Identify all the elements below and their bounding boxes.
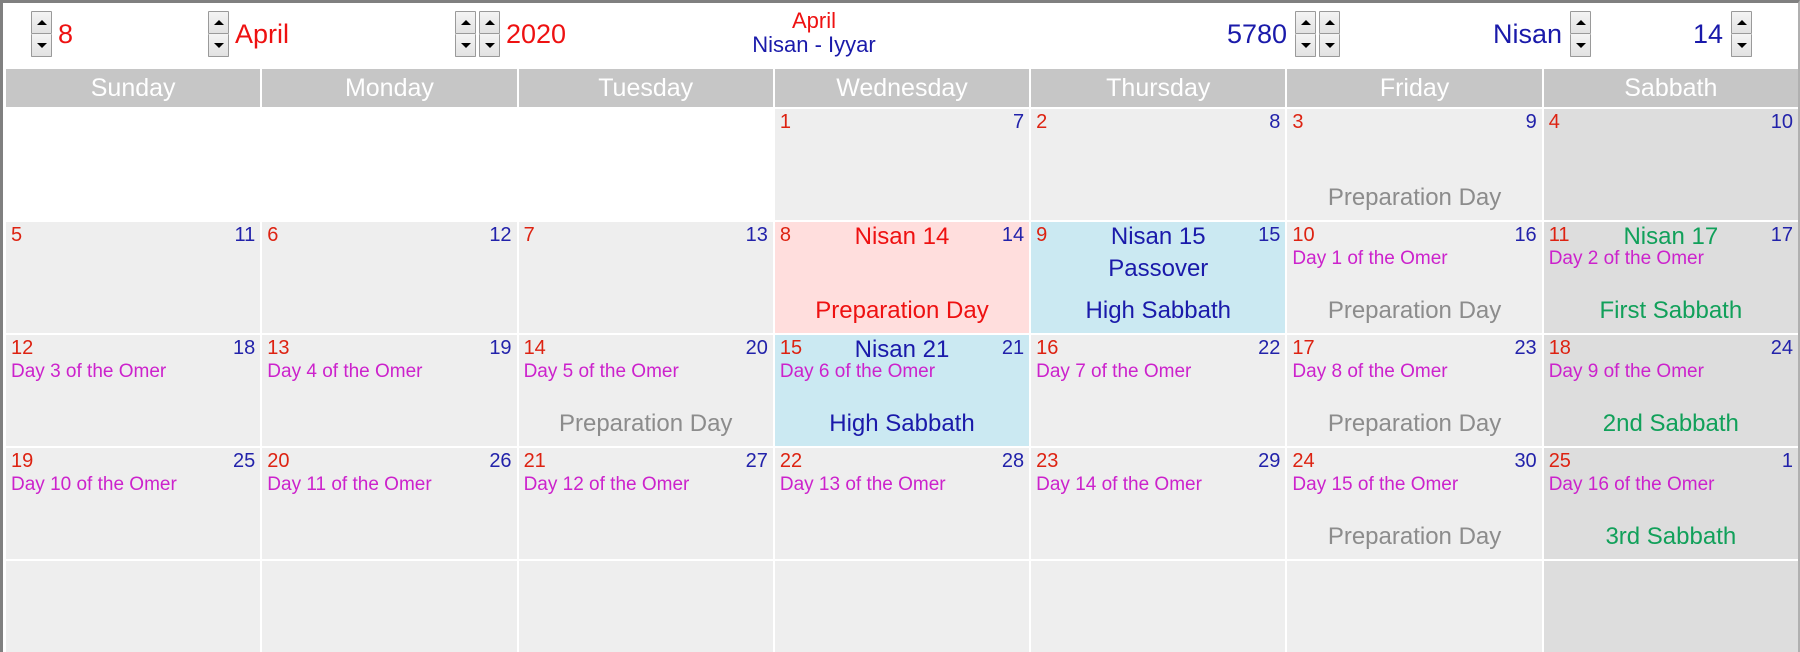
hebrew-day-number: 14 [1002, 224, 1024, 247]
hebrew-year-spinner-a-up[interactable] [1295, 11, 1316, 34]
calendar-day-cell-6[interactable]: 612 [262, 222, 518, 333]
weekday-header-sunday: Sunday [6, 69, 262, 107]
gregorian-year-spinner-pair[interactable] [455, 11, 506, 57]
gregorian-day-number: 19 [11, 450, 33, 473]
triangle-down-icon [214, 43, 224, 48]
hebrew-day-number: 11 [235, 224, 256, 247]
calendar-day-cell-17[interactable]: 1723Day 8 of the OmerPreparation Day [1287, 335, 1543, 446]
calendar-day-cell-14[interactable]: 1420Day 5 of the OmerPreparation Day [519, 335, 775, 446]
calendar-day-cell-empty[interactable] [1544, 561, 1798, 652]
month-title-hebrew: Nisan - Iyyar [699, 33, 929, 57]
calendar-day-cell-24[interactable]: 2430Day 15 of the OmerPreparation Day [1287, 448, 1543, 559]
calendar-day-cell-22[interactable]: 2228Day 13 of the Omer [775, 448, 1031, 559]
weekday-header-friday: Friday [1287, 69, 1543, 107]
hebrew-day-number: 22 [1258, 337, 1280, 360]
triangle-down-icon [1737, 43, 1747, 48]
gregorian-day-number: 10 [1292, 224, 1314, 247]
gregorian-day-spinner-up[interactable] [31, 11, 52, 34]
calendar-week-row: 511612713Nisan 14814Preparation DayNisan… [6, 220, 1798, 333]
month-title: April Nisan - Iyyar [699, 9, 929, 57]
hebrew-month-spinner-up[interactable] [1570, 11, 1591, 34]
gregorian-day-spinner-down[interactable] [31, 34, 52, 57]
hebrew-day-number: 18 [233, 337, 255, 360]
calendar-day-cell-12[interactable]: 1218Day 3 of the Omer [6, 335, 262, 446]
calendar-toolbar: 8 April 2020 April [3, 3, 1798, 69]
calendar-day-cell-20[interactable]: 2026Day 11 of the Omer [262, 448, 518, 559]
hebrew-month-control[interactable]: Nisan [1493, 11, 1597, 57]
calendar-grid: 172839Preparation Day410511612713Nisan 1… [3, 107, 1798, 652]
gregorian-day-number: 13 [267, 337, 289, 360]
gregorian-year-spinner-a[interactable] [455, 11, 476, 57]
weekday-header-tuesday: Tuesday [519, 69, 775, 107]
hebrew-day-number: 20 [746, 337, 768, 360]
hebrew-day-number: 19 [489, 337, 511, 360]
calendar-day-cell-11[interactable]: Nisan 171117Day 2 of the OmerFirst Sabba… [1544, 222, 1798, 333]
gregorian-day-number: 8 [780, 224, 791, 247]
gregorian-day-control[interactable]: 8 [31, 11, 73, 57]
gregorian-day-value: 8 [58, 21, 73, 48]
day-designation-label: 2nd Sabbath [1544, 410, 1798, 438]
gregorian-day-number: 11 [1549, 224, 1570, 247]
calendar-day-cell-1[interactable]: 17 [775, 109, 1031, 220]
calendar-day-cell-empty[interactable] [1031, 561, 1287, 652]
weekday-header-row: SundayMondayTuesdayWednesdayThursdayFrid… [3, 69, 1798, 107]
calendar-day-cell-21[interactable]: 2127Day 12 of the Omer [519, 448, 775, 559]
triangle-up-icon [461, 20, 471, 25]
gregorian-month-value: April [235, 21, 289, 48]
calendar-day-cell-empty[interactable] [1287, 561, 1543, 652]
day-designation-label: Preparation Day [1287, 184, 1541, 212]
hebrew-day-number: 30 [1514, 450, 1536, 473]
hebrew-year-control[interactable]: 5780 [1227, 11, 1346, 57]
day-designation-label: 3rd Sabbath [1544, 523, 1798, 551]
day-designation-label: Preparation Day [1287, 297, 1541, 325]
triangle-up-icon [1325, 20, 1335, 25]
hebrew-date-headline: Nisan 17 [1544, 222, 1798, 251]
gregorian-day-number: 23 [1036, 450, 1058, 473]
calendar-day-cell-8[interactable]: Nisan 14814Preparation Day [775, 222, 1031, 333]
day-designation-label: High Sabbath [775, 410, 1029, 438]
calendar-day-cell-empty [262, 109, 518, 220]
hebrew-date-headline: Nisan 15 [1031, 222, 1285, 251]
calendar-day-cell-25[interactable]: 251Day 16 of the Omer3rd Sabbath [1544, 448, 1798, 559]
gregorian-month-control[interactable]: April [208, 11, 289, 57]
day-designation-label: High Sabbath [1031, 297, 1285, 325]
hebrew-day-number: 23 [1514, 337, 1536, 360]
hebrew-day-number: 16 [1514, 224, 1536, 247]
triangle-up-icon [485, 20, 495, 25]
omer-count-label: Day 14 of the Omer [1036, 474, 1202, 496]
hebrew-day-spinner[interactable] [1731, 11, 1752, 57]
triangle-down-icon [461, 43, 471, 48]
calendar-day-cell-18[interactable]: 1824Day 9 of the Omer2nd Sabbath [1544, 335, 1798, 446]
triangle-up-icon [214, 20, 224, 25]
gregorian-day-number: 21 [524, 450, 546, 473]
gregorian-day-number: 12 [11, 337, 33, 360]
calendar-day-cell-empty[interactable] [262, 561, 518, 652]
triangle-down-icon [1325, 43, 1335, 48]
triangle-down-icon [1301, 43, 1311, 48]
hebrew-day-number: 17 [1771, 224, 1793, 247]
gregorian-month-spinner-up[interactable] [208, 11, 229, 34]
calendar-week-row: 1218Day 3 of the Omer1319Day 4 of the Om… [6, 333, 1798, 446]
hebrew-month-value: Nisan [1493, 21, 1562, 48]
hebrew-year-spinner-a[interactable] [1295, 11, 1316, 57]
hebrew-day-number: 21 [1002, 337, 1024, 360]
calendar-day-cell-empty [6, 109, 262, 220]
day-designation-label: Preparation Day [1287, 410, 1541, 438]
gregorian-day-number: 18 [1549, 337, 1571, 360]
hebrew-day-number: 27 [746, 450, 768, 473]
omer-count-label: Day 13 of the Omer [780, 474, 946, 496]
day-designation-label: Preparation Day [1287, 523, 1541, 551]
hebrew-day-number: 29 [1258, 450, 1280, 473]
gregorian-day-number: 20 [267, 450, 289, 473]
hebrew-day-number: 26 [489, 450, 511, 473]
weekday-header-monday: Monday [262, 69, 518, 107]
hebrew-day-number: 8 [1269, 111, 1280, 134]
weekday-header-wednesday: Wednesday [775, 69, 1031, 107]
gregorian-year-spinner-b-up[interactable] [479, 11, 500, 34]
calendar-day-cell-empty[interactable] [775, 561, 1031, 652]
weekday-header-thursday: Thursday [1031, 69, 1287, 107]
omer-count-label: Day 5 of the Omer [524, 361, 679, 383]
gregorian-day-spinner[interactable] [31, 11, 52, 57]
gregorian-day-number: 15 [780, 337, 802, 360]
hebrew-day-number: 7 [1013, 111, 1024, 134]
hebrew-day-number: 25 [233, 450, 255, 473]
omer-count-label: Day 12 of the Omer [524, 474, 690, 496]
hebrew-year-spinner-b-down[interactable] [1319, 34, 1340, 57]
calendar-week-row [6, 559, 1798, 652]
gregorian-day-number: 24 [1292, 450, 1314, 473]
calendar-day-cell-2[interactable]: 28 [1031, 109, 1287, 220]
calendar-day-cell-10[interactable]: 1016Day 1 of the OmerPreparation Day [1287, 222, 1543, 333]
gregorian-day-number: 6 [267, 224, 278, 247]
hebrew-day-number: 28 [1002, 450, 1024, 473]
omer-count-label: Day 2 of the Omer [1549, 248, 1704, 270]
gregorian-year-value: 2020 [506, 21, 566, 48]
hebrew-year-spinner-b[interactable] [1319, 11, 1340, 57]
hebrew-day-control[interactable]: 14 [1693, 11, 1758, 57]
day-designation-label: First Sabbath [1544, 297, 1798, 325]
month-title-gregorian: April [699, 9, 929, 33]
gregorian-day-number: 4 [1549, 111, 1560, 134]
hebrew-month-spinner[interactable] [1570, 11, 1591, 57]
omer-count-label: Day 3 of the Omer [11, 361, 166, 383]
omer-count-label: Day 1 of the Omer [1292, 248, 1447, 270]
omer-count-label: Day 4 of the Omer [267, 361, 422, 383]
omer-count-label: Day 11 of the Omer [267, 474, 431, 496]
hebrew-day-number: 13 [746, 224, 768, 247]
gregorian-month-spinner[interactable] [208, 11, 229, 57]
omer-count-label: Day 9 of the Omer [1549, 361, 1704, 383]
weekday-header-sabbath: Sabbath [1544, 69, 1798, 107]
hebrew-year-spinner-pair[interactable] [1295, 11, 1346, 57]
calendar-day-cell-15[interactable]: Nisan 211521Day 6 of the OmerHigh Sabbat… [775, 335, 1031, 446]
omer-count-label: Day 7 of the Omer [1036, 361, 1191, 383]
gregorian-day-number: 14 [524, 337, 546, 360]
omer-count-label: Day 6 of the Omer [780, 361, 935, 383]
calendar-week-row: 1925Day 10 of the Omer2026Day 11 of the … [6, 446, 1798, 559]
hebrew-day-spinner-up[interactable] [1731, 11, 1752, 34]
hebrew-day-number: 12 [489, 224, 511, 247]
hebrew-year-spinner-b-up[interactable] [1319, 11, 1340, 34]
calendar-day-cell-9[interactable]: Nisan 15915PassoverHigh Sabbath [1031, 222, 1287, 333]
gregorian-day-number: 2 [1036, 111, 1047, 134]
calendar-day-cell-5[interactable]: 511 [6, 222, 262, 333]
gregorian-year-spinner-b[interactable] [479, 11, 500, 57]
calendar-day-cell-4[interactable]: 410 [1544, 109, 1798, 220]
hebrew-month-spinner-down[interactable] [1570, 34, 1591, 57]
calendar-day-cell-13[interactable]: 1319Day 4 of the Omer [262, 335, 518, 446]
triangle-up-icon [37, 20, 47, 25]
triangle-down-icon [485, 43, 495, 48]
calendar-day-cell-16[interactable]: 1622Day 7 of the Omer [1031, 335, 1287, 446]
hebrew-day-number: 9 [1526, 111, 1537, 134]
hebrew-date-headline: Nisan 21 [775, 335, 1029, 364]
hebrew-day-number: 10 [1771, 111, 1793, 134]
gregorian-year-spinner-b-down[interactable] [479, 34, 500, 57]
gregorian-day-number: 16 [1036, 337, 1058, 360]
hebrew-day-value: 14 [1693, 21, 1723, 48]
gregorian-year-spinner-a-down[interactable] [455, 34, 476, 57]
hebrew-day-number: 15 [1258, 224, 1280, 247]
gregorian-month-spinner-down[interactable] [208, 34, 229, 57]
hebrew-day-number: 24 [1771, 337, 1793, 360]
omer-count-label: Day 15 of the Omer [1292, 474, 1458, 496]
gregorian-day-number: 5 [11, 224, 22, 247]
gregorian-day-number: 17 [1292, 337, 1314, 360]
triangle-down-icon [1576, 43, 1586, 48]
triangle-down-icon [37, 43, 47, 48]
calendar-day-cell-empty[interactable] [519, 561, 775, 652]
triangle-up-icon [1576, 20, 1586, 25]
gregorian-day-number: 9 [1036, 224, 1047, 247]
omer-count-label: Day 8 of the Omer [1292, 361, 1447, 383]
triangle-up-icon [1737, 20, 1747, 25]
calendar-day-cell-23[interactable]: 2329Day 14 of the Omer [1031, 448, 1287, 559]
calendar-app: 8 April 2020 April [0, 0, 1800, 652]
gregorian-year-control[interactable]: 2020 [455, 11, 566, 57]
gregorian-day-number: 7 [524, 224, 535, 247]
hebrew-day-number: 1 [1782, 450, 1793, 473]
gregorian-day-number: 25 [1549, 450, 1571, 473]
calendar-day-cell-empty[interactable] [6, 561, 262, 652]
gregorian-day-number: 3 [1292, 111, 1303, 134]
hebrew-year-value: 5780 [1227, 21, 1287, 48]
gregorian-year-spinner-a-up[interactable] [455, 11, 476, 34]
gregorian-day-number: 1 [780, 111, 791, 134]
hebrew-date-headline: Nisan 14 [775, 222, 1029, 251]
omer-count-label: Day 10 of the Omer [11, 474, 177, 496]
triangle-up-icon [1301, 20, 1311, 25]
gregorian-day-number: 22 [780, 450, 802, 473]
calendar-day-cell-empty [519, 109, 775, 220]
calendar-day-cell-3[interactable]: 39Preparation Day [1287, 109, 1543, 220]
calendar-day-cell-19[interactable]: 1925Day 10 of the Omer [6, 448, 262, 559]
omer-count-label: Day 16 of the Omer [1549, 474, 1715, 496]
hebrew-year-spinner-a-down[interactable] [1295, 34, 1316, 57]
calendar-week-row: 172839Preparation Day410 [6, 107, 1798, 220]
day-designation-label: Preparation Day [519, 410, 773, 438]
day-designation-label: Preparation Day [775, 297, 1029, 325]
hebrew-day-spinner-down[interactable] [1731, 34, 1752, 57]
calendar-day-cell-7[interactable]: 713 [519, 222, 775, 333]
feast-label: Passover [1031, 255, 1285, 283]
